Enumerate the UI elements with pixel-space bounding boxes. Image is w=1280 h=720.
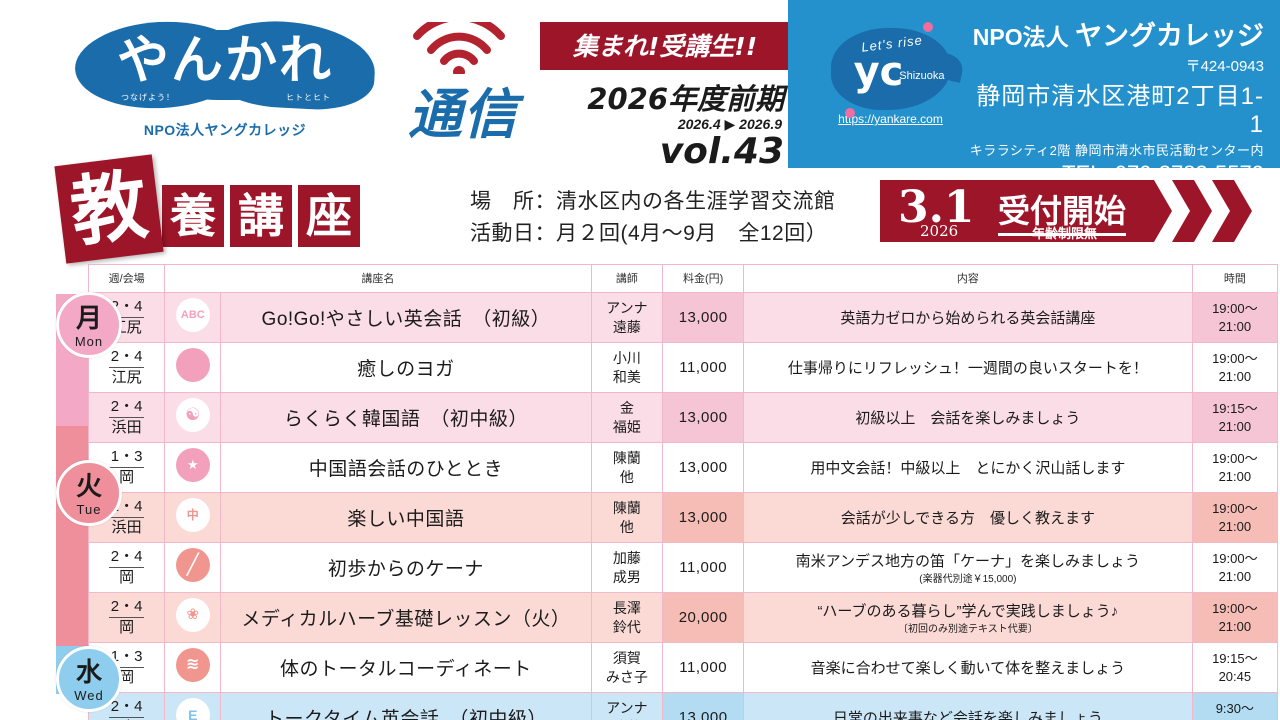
chevron-icon-3 bbox=[1212, 180, 1252, 242]
row-1-time2: 21:00 bbox=[1219, 369, 1252, 384]
tsushin-block: 通信 bbox=[383, 18, 543, 158]
venue-line-2: 活動日：月２回(4月〜9月 全12回） bbox=[470, 218, 836, 250]
korea-flag-icon-glyph: ☯ bbox=[176, 398, 210, 432]
th-course-name: 講座名 bbox=[165, 265, 591, 293]
title-char-1: 養 bbox=[162, 185, 224, 247]
cell-course-icon: ≋ bbox=[165, 643, 221, 693]
table-row: 1・3岡≋体のトータルコーディネート須賀みさ子11,000音楽に合わせて楽しく動… bbox=[89, 643, 1278, 693]
row-6-teacher1: 長澤 bbox=[613, 600, 641, 616]
cell-course-icon: ╱ bbox=[165, 543, 221, 593]
row-5-time2: 21:00 bbox=[1219, 569, 1252, 584]
cell-course-name: らくらく韓国語 （初中級） bbox=[221, 393, 591, 443]
day-badge-tue-kanji: 火 bbox=[59, 463, 119, 501]
cell-fee: 13,000 bbox=[663, 693, 744, 720]
cell-time: 19:00〜21:00 bbox=[1192, 543, 1277, 593]
row-3-time2: 21:00 bbox=[1219, 469, 1252, 484]
row-2-week: 2・4 bbox=[109, 397, 145, 418]
row-6-desc: “ハーブのある暮らし”学んで実践しましょう♪ bbox=[817, 603, 1118, 620]
row-6-note: 〔初回のみ別途テキスト代要〕 bbox=[750, 620, 1186, 635]
promo-year: 2026年度前期 bbox=[540, 76, 790, 118]
row-1-venue: 江尻 bbox=[112, 369, 142, 386]
cell-description: 音楽に合わせて楽しく動いて体を整えましょう bbox=[744, 643, 1193, 693]
cell-time: 19:00〜21:00 bbox=[1192, 593, 1277, 643]
table-row: 2・4浜田☯らくらく韓国語 （初中級）金福姫13,000初級以上 会話を楽しみま… bbox=[89, 393, 1278, 443]
body-care-icon: ≋ bbox=[176, 648, 210, 682]
cell-description: 仕事帰りにリフレッシュ！一週間の良いスタートを！ bbox=[744, 343, 1193, 393]
wifi-icon bbox=[411, 22, 507, 74]
cell-course-icon: 中 bbox=[165, 493, 221, 543]
row-3-time1: 19:00〜 bbox=[1212, 451, 1258, 466]
day-badge-tue: 火 Tue bbox=[56, 460, 122, 526]
row-6-time1: 19:00〜 bbox=[1212, 601, 1258, 616]
promo-block: 集まれ!受講生!! 2026年度前期 2026.4 ▶ 2026.9 vol.4… bbox=[540, 22, 790, 172]
contact-org-prefix: NPO法人 bbox=[973, 24, 1069, 50]
cell-teacher: 金福姫 bbox=[591, 393, 663, 443]
cell-course-name: 癒しのヨガ bbox=[221, 343, 591, 393]
table-row: 2・4江尻 癒しのヨガ小川和美11,000仕事帰りにリフレッシュ！一週間の良いス… bbox=[89, 343, 1278, 393]
talk-english-icon: E bbox=[176, 698, 210, 720]
cell-course-icon: ★ bbox=[165, 443, 221, 493]
row-3-teacher1: 陳蘭 bbox=[613, 450, 641, 466]
row-6-time2: 21:00 bbox=[1219, 619, 1252, 634]
table-row: 2・4江尻ABCGo!Go!やさしい英会話 （初級）アンナ遠藤13,000英語力… bbox=[89, 293, 1278, 343]
cell-week-venue: 2・4岡 bbox=[89, 543, 165, 593]
yoga-icon bbox=[176, 348, 210, 382]
rail-segment-tue bbox=[56, 426, 88, 646]
day-badge-mon-en: Mon bbox=[59, 333, 119, 351]
flyer-page: やんかれ つなげよう！ ヒトとヒト NPO法人ヤングカレッジ 通信 集まれ!受講… bbox=[0, 0, 1280, 720]
day-badge-mon-kanji: 月 bbox=[59, 295, 119, 333]
cell-description: 南米アンデス地方の笛「ケーナ」を楽しみましょう(楽器代別途￥15,000) bbox=[744, 543, 1193, 593]
logo-sub-right: ヒトとヒト bbox=[286, 92, 331, 103]
row-2-teacher2: 福姫 bbox=[613, 419, 641, 435]
row-5-teacher2: 成男 bbox=[613, 569, 641, 585]
row-7-teacher2: みさ子 bbox=[606, 669, 648, 685]
cell-time: 19:15〜20:45 bbox=[1192, 643, 1277, 693]
venue-info: 場 所：清水区内の各生涯学習交流館 活動日：月２回(4月〜9月 全12回） bbox=[470, 186, 836, 250]
yoga-icon-glyph bbox=[176, 348, 210, 382]
row-3-desc: 用中文会話！中級以上 とにかく沢山話します bbox=[810, 460, 1125, 477]
row-4-time1: 19:00〜 bbox=[1212, 501, 1258, 516]
china-flag-icon-glyph: ★ bbox=[176, 448, 210, 482]
contact-org-name: ヤングカレッジ bbox=[1075, 21, 1264, 51]
cell-course-icon: ☯ bbox=[165, 393, 221, 443]
row-0-desc: 英語力ゼロから始められる英会話講座 bbox=[840, 310, 1095, 327]
cell-course-name: 中国語会話のひととき bbox=[221, 443, 591, 493]
cell-fee: 11,000 bbox=[663, 643, 744, 693]
yc-dot-top bbox=[923, 22, 933, 32]
row-2-desc: 初級以上 会話を楽しみましょう bbox=[855, 410, 1080, 427]
table-body: 2・4江尻ABCGo!Go!やさしい英会話 （初級）アンナ遠藤13,000英語力… bbox=[89, 293, 1278, 720]
abc-icon: ABC bbox=[176, 298, 210, 332]
row-4-teacher2: 他 bbox=[620, 519, 634, 535]
cell-teacher: 陳蘭他 bbox=[591, 443, 663, 493]
start-note: 年齢制限無 bbox=[1032, 223, 1097, 242]
row-4-teacher1: 陳蘭 bbox=[613, 500, 641, 516]
yc-shizuoka-text: Shizuoka bbox=[899, 70, 944, 82]
day-badge-mon: 月 Mon bbox=[56, 292, 122, 358]
chinese-speech-icon-glyph: 中 bbox=[176, 498, 210, 532]
cell-teacher: 陳蘭他 bbox=[591, 493, 663, 543]
row-6-week: 2・4 bbox=[109, 597, 145, 618]
tsushin-text: 通信 bbox=[383, 70, 543, 149]
th-time: 時間 bbox=[1192, 265, 1277, 293]
cell-description: 用中文会話！中級以上 とにかく沢山話します bbox=[744, 443, 1193, 493]
contact-address-detail: キララシティ2階 静岡市清水市民活動センター内 bbox=[968, 140, 1264, 159]
start-year: 2026 bbox=[920, 222, 958, 240]
cell-teacher: 須賀みさ子 bbox=[591, 643, 663, 693]
row-0-teacher1: アンナ bbox=[606, 300, 647, 316]
row-5-week: 2・4 bbox=[109, 547, 145, 568]
flute-icon: ╱ bbox=[176, 548, 210, 582]
cell-course-name: 楽しい中国語 bbox=[221, 493, 591, 543]
cell-time: 19:00〜21:00 bbox=[1192, 443, 1277, 493]
section-title: 教 養 講 座 bbox=[60, 174, 366, 258]
chevron-icon-2 bbox=[1172, 180, 1212, 242]
cell-fee: 13,000 bbox=[663, 443, 744, 493]
course-table: 週/会場 講座名 講師 料金(円) 内容 時間 2・4江尻ABCGo!Go!やさ… bbox=[88, 264, 1278, 720]
th-teacher: 講師 bbox=[591, 265, 663, 293]
row-1-time1: 19:00〜 bbox=[1212, 351, 1258, 366]
row-3-teacher2: 他 bbox=[620, 469, 634, 485]
row-2-time1: 19:15〜 bbox=[1212, 401, 1258, 416]
cell-teacher: 長澤鈴代 bbox=[591, 593, 663, 643]
cell-teacher: アンナ遠藤 bbox=[591, 293, 663, 343]
herb-icon: ❀ bbox=[176, 598, 210, 632]
yankare-logo: やんかれ つなげよう！ ヒトとヒト NPO法人ヤングカレッジ bbox=[60, 18, 390, 148]
korea-flag-icon: ☯ bbox=[176, 398, 210, 432]
title-char-0: 教 bbox=[54, 154, 163, 263]
body-care-icon-glyph: ≋ bbox=[176, 648, 210, 682]
table-row: 2・4岡╱初歩からのケーナ加藤成男11,000南米アンデス地方の笛「ケーナ」を楽… bbox=[89, 543, 1278, 593]
title-char-3: 座 bbox=[298, 185, 360, 247]
row-2-time2: 21:00 bbox=[1219, 419, 1252, 434]
cell-course-name: Go!Go!やさしい英会話 （初級） bbox=[221, 293, 591, 343]
schedule-area: 月 Mon 火 Tue 水 Wed 週/会場 bbox=[0, 264, 1280, 720]
cell-course-name: 体のトータルコーディネート bbox=[221, 643, 591, 693]
talk-english-icon-glyph: E bbox=[176, 698, 210, 720]
cell-week-venue: 2・4浜田 bbox=[89, 393, 165, 443]
row-8-teacher1: アンナ bbox=[606, 700, 647, 716]
cell-fee: 13,000 bbox=[663, 393, 744, 443]
yc-logo: Let's rise yc Shizuoka https://yankare.c… bbox=[818, 28, 963, 146]
row-1-desc: 仕事帰りにリフレッシュ！一週間の良いスタートを！ bbox=[788, 360, 1148, 377]
cell-description: 英語力ゼロから始められる英会話講座 bbox=[744, 293, 1193, 343]
row-5-teacher1: 加藤 bbox=[613, 550, 641, 566]
cell-time: 19:00〜21:00 bbox=[1192, 493, 1277, 543]
cell-course-icon: E bbox=[165, 693, 221, 720]
row-7-time2: 20:45 bbox=[1219, 669, 1252, 684]
th-fee: 料金(円) bbox=[663, 265, 744, 293]
promo-volume: vol.43 bbox=[540, 131, 790, 172]
table-row: 2・4辻Eトークタイム英会話 （初中級）アンナ遠藤13,000日常の出来事など会… bbox=[89, 693, 1278, 720]
day-badge-wed: 水 Wed bbox=[56, 646, 122, 712]
cell-time: 19:00〜21:00 bbox=[1192, 343, 1277, 393]
yc-blob-shape: Let's rise yc Shizuoka bbox=[831, 28, 951, 110]
cell-description: 日常の出来事など会話を楽しみましょう bbox=[744, 693, 1193, 720]
row-5-venue: 岡 bbox=[119, 569, 134, 586]
row-1-teacher1: 小川 bbox=[613, 350, 641, 366]
promo-banner: 集まれ!受講生!! bbox=[540, 22, 790, 70]
day-badge-wed-kanji: 水 bbox=[59, 649, 119, 687]
contact-zip: 〒424-0943 bbox=[968, 55, 1264, 76]
row-4-venue: 浜田 bbox=[112, 519, 142, 536]
registration-start-banner: 3.1 2026 受付開始 年齢制限無 bbox=[880, 180, 1280, 242]
row-2-teacher1: 金 bbox=[620, 400, 634, 416]
row-5-desc: 南米アンデス地方の笛「ケーナ」を楽しみましょう bbox=[796, 553, 1140, 570]
row-7-teacher1: 須賀 bbox=[613, 650, 641, 666]
cell-course-icon bbox=[165, 343, 221, 393]
cell-description: 会話が少しできる方 優しく教えます bbox=[744, 493, 1193, 543]
row-4-time2: 21:00 bbox=[1219, 519, 1252, 534]
title-bar: 教 養 講 座 場 所：清水区内の各生涯学習交流館 活動日：月２回(4月〜9月 … bbox=[0, 168, 1280, 264]
cell-fee: 13,000 bbox=[663, 293, 744, 343]
logo-main-text: やんかれ bbox=[75, 24, 375, 98]
th-week-venue: 週/会場 bbox=[89, 265, 165, 293]
table-row: 2・4岡❀メディカルハーブ基礎レッスン（火）長澤鈴代20,000“ハーブのある暮… bbox=[89, 593, 1278, 643]
cell-teacher: アンナ遠藤 bbox=[591, 693, 663, 720]
row-6-venue: 岡 bbox=[119, 619, 134, 636]
row-8-time1: 9:30〜 bbox=[1216, 701, 1254, 716]
day-badge-wed-en: Wed bbox=[59, 687, 119, 705]
yc-dot-bottom bbox=[845, 108, 855, 118]
row-5-time1: 19:00〜 bbox=[1212, 551, 1258, 566]
cell-fee: 11,000 bbox=[663, 343, 744, 393]
contact-panel: Let's rise yc Shizuoka https://yankare.c… bbox=[788, 0, 1280, 168]
cell-teacher: 小川和美 bbox=[591, 343, 663, 393]
cell-course-name: 初歩からのケーナ bbox=[221, 543, 591, 593]
cell-course-icon: ABC bbox=[165, 293, 221, 343]
cell-fee: 13,000 bbox=[663, 493, 744, 543]
row-5-note: (楽器代別途￥15,000) bbox=[750, 570, 1186, 585]
row-0-time2: 21:00 bbox=[1219, 319, 1252, 334]
row-7-desc: 音楽に合わせて楽しく動いて体を整えましょう bbox=[811, 660, 1126, 677]
contact-address: 静岡市清水区港町2丁目1-1 bbox=[968, 76, 1264, 139]
logo-sub-left: つなげよう！ bbox=[121, 92, 175, 103]
row-7-time1: 19:15〜 bbox=[1212, 651, 1258, 666]
cell-course-name: トークタイム英会話 （初中級） bbox=[221, 693, 591, 720]
cell-course-icon: ❀ bbox=[165, 593, 221, 643]
china-flag-icon: ★ bbox=[176, 448, 210, 482]
flute-icon-glyph: ╱ bbox=[176, 548, 210, 582]
logo-blob-shape: やんかれ つなげよう！ ヒトとヒト bbox=[75, 18, 375, 114]
table-row: 2・4浜田中楽しい中国語陳蘭他13,000会話が少しできる方 優しく教えます19… bbox=[89, 493, 1278, 543]
cell-time: 9:30〜11:15 bbox=[1192, 693, 1277, 720]
table-header-row: 週/会場 講座名 講師 料金(円) 内容 時間 bbox=[89, 265, 1278, 293]
cell-description: “ハーブのある暮らし”学んで実践しましょう♪〔初回のみ別途テキスト代要〕 bbox=[744, 593, 1193, 643]
title-char-2: 講 bbox=[230, 185, 292, 247]
row-6-teacher2: 鈴代 bbox=[613, 619, 641, 635]
abc-icon-glyph: ABC bbox=[176, 298, 210, 332]
th-description: 内容 bbox=[744, 265, 1193, 293]
table-header: 週/会場 講座名 講師 料金(円) 内容 時間 bbox=[89, 265, 1278, 293]
row-4-desc: 会話が少しできる方 優しく教えます bbox=[841, 510, 1095, 527]
cell-teacher: 加藤成男 bbox=[591, 543, 663, 593]
logo-caption: NPO法人ヤングカレッジ bbox=[60, 120, 390, 140]
header: やんかれ つなげよう！ ヒトとヒト NPO法人ヤングカレッジ 通信 集まれ!受講… bbox=[0, 0, 1280, 168]
row-1-teacher2: 和美 bbox=[613, 369, 641, 385]
cell-time: 19:00〜21:00 bbox=[1192, 293, 1277, 343]
row-2-venue: 浜田 bbox=[112, 419, 142, 436]
herb-icon-glyph: ❀ bbox=[176, 598, 210, 632]
chinese-speech-icon: 中 bbox=[176, 498, 210, 532]
cell-course-name: メディカルハーブ基礎レッスン（火） bbox=[221, 593, 591, 643]
cell-description: 初級以上 会話を楽しみましょう bbox=[744, 393, 1193, 443]
cell-time: 19:15〜21:00 bbox=[1192, 393, 1277, 443]
cell-fee: 20,000 bbox=[663, 593, 744, 643]
venue-line-1: 場 所：清水区内の各生涯学習交流館 bbox=[470, 186, 836, 218]
cell-fee: 11,000 bbox=[663, 543, 744, 593]
start-banner-body: 3.1 2026 受付開始 年齢制限無 bbox=[880, 180, 1150, 242]
row-3-venue: 岡 bbox=[119, 469, 134, 486]
table-row: 1・3岡★中国語会話のひととき陳蘭他13,000用中文会話！中級以上 とにかく沢… bbox=[89, 443, 1278, 493]
contact-org: NPO法人 ヤングカレッジ bbox=[968, 14, 1264, 53]
day-badge-tue-en: Tue bbox=[59, 501, 119, 519]
row-8-desc: 日常の出来事など会話を楽しみましょう bbox=[833, 710, 1103, 720]
cell-week-venue: 2・4岡 bbox=[89, 593, 165, 643]
row-0-teacher2: 遠藤 bbox=[613, 319, 641, 335]
row-0-time1: 19:00〜 bbox=[1212, 301, 1258, 316]
